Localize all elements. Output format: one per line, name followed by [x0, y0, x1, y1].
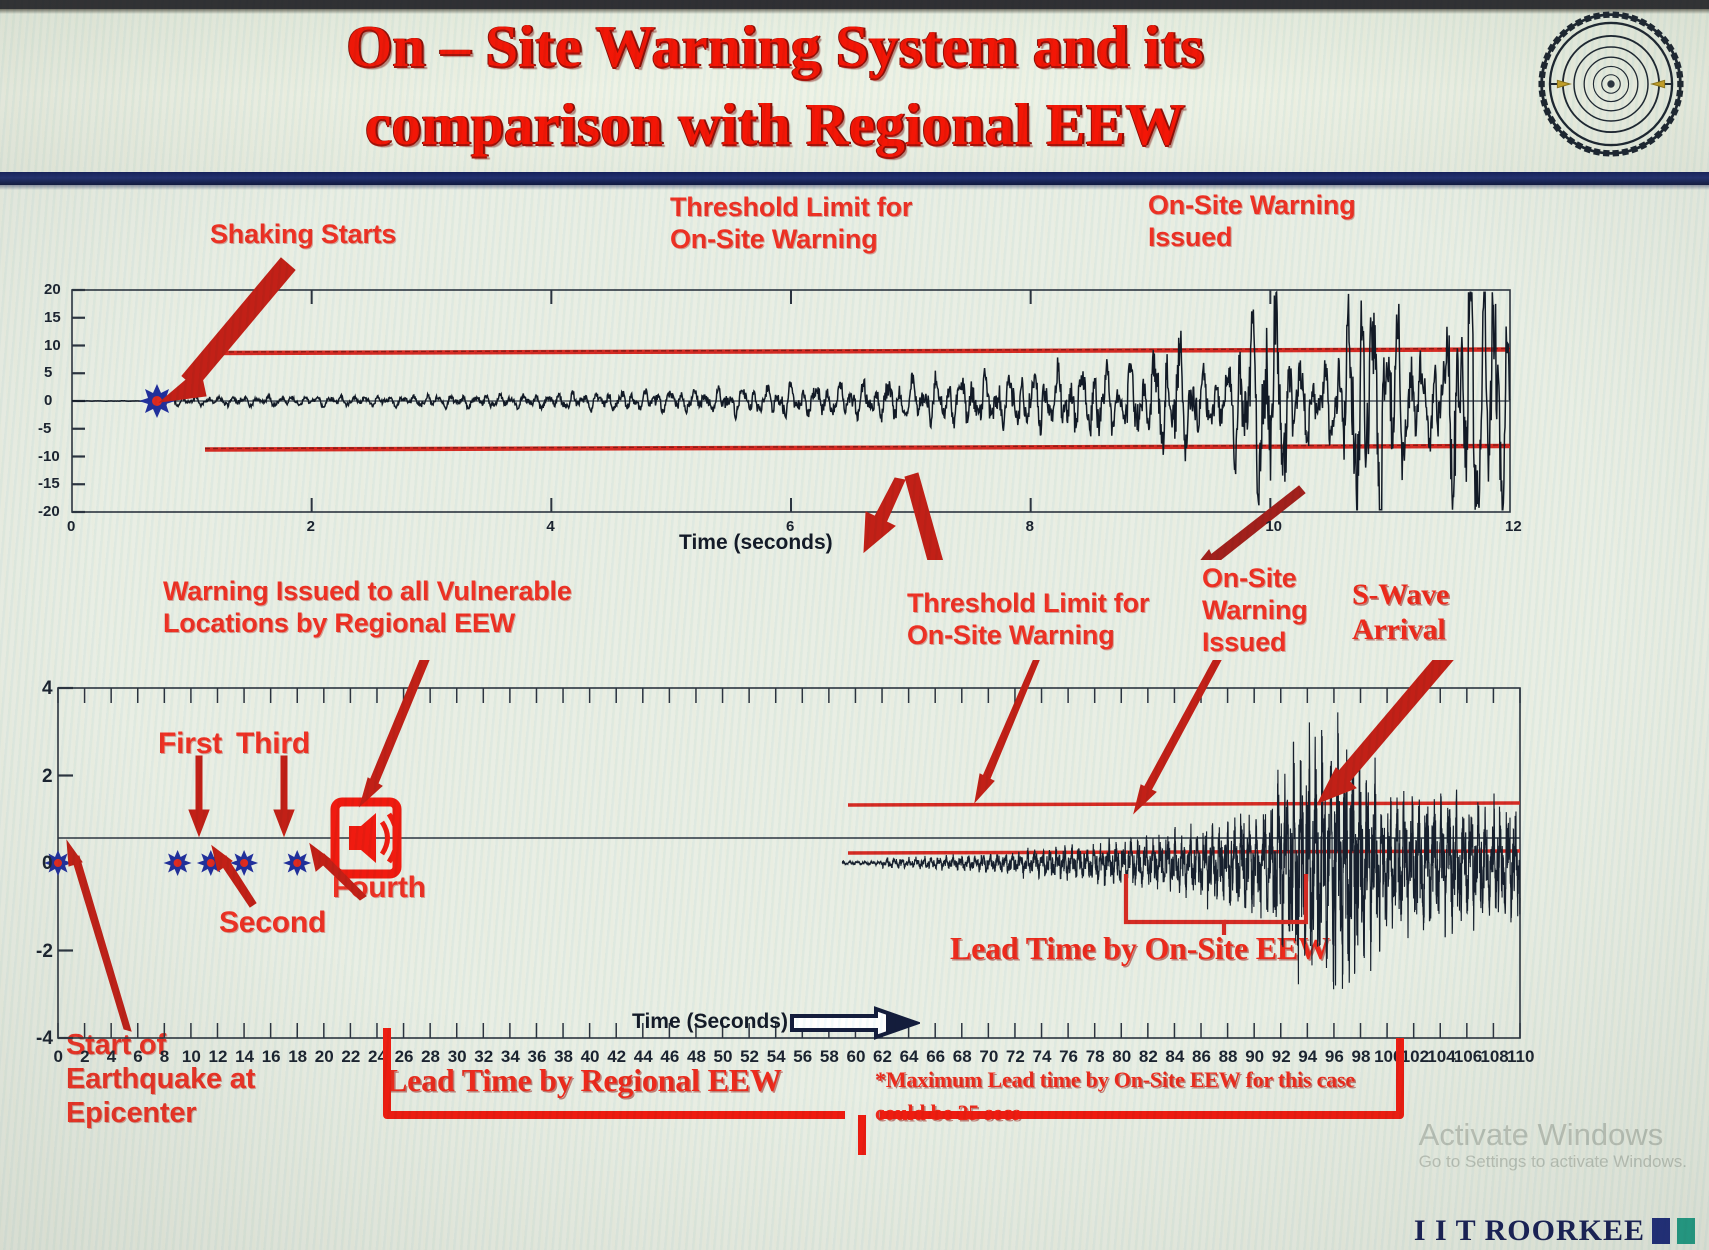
top-seismogram-chart: [0, 190, 1709, 560]
top-chart-y-tick: 10: [44, 337, 61, 354]
annotation-threshold-limit-bottom: Threshold Limit for On-Site Warning: [907, 588, 1149, 652]
threshold-line-negative: [205, 445, 1510, 450]
arrow-shaking-starts: [160, 258, 295, 402]
top-chart-y-tick: 20: [44, 281, 61, 298]
annotation-s-wave-arrival: S-Wave Arrival: [1352, 577, 1449, 648]
watermark-line1: Activate Windows: [1419, 1117, 1687, 1153]
top-chart-x-tick: 2: [307, 518, 315, 535]
arrow-second: [212, 846, 256, 907]
arrow-onsite-warning-bottom: [1134, 660, 1241, 813]
arrow-s-wave-arrival: [1318, 660, 1477, 803]
top-chart-x-tick: 12: [1505, 518, 1522, 535]
bottom-chart-y-tick: 2: [42, 766, 53, 788]
top-chart-x-tick: 4: [546, 518, 554, 535]
footer-brand-square-2: [1677, 1218, 1695, 1244]
onsite-seismogram-trace: [842, 712, 1520, 989]
threshold-line-positive: [205, 349, 1510, 354]
top-chart-y-tick: -20: [38, 503, 60, 520]
top-chart-y-tick: -5: [38, 420, 51, 437]
arrow-start-of-earthquake: [67, 841, 131, 1031]
footer-brand-text: I I T ROORKEE: [1414, 1214, 1645, 1248]
page-title: On – Site Warning System and its compari…: [170, 8, 1380, 164]
top-chart-y-tick: 5: [44, 364, 52, 381]
annotation-onsite-warning-issued-bottom: On-Site Warning Issued: [1202, 563, 1308, 659]
bottom-chart-y-tick: 4: [42, 678, 53, 700]
arrow-onsite-warning-top: [1185, 486, 1305, 560]
station-marker: [164, 850, 192, 876]
arrow-threshold-bottom: [975, 660, 1055, 802]
top-chart-x-tick: 0: [67, 518, 75, 535]
station-marker: [283, 850, 311, 876]
lead-time-onsite-brace: [1126, 874, 1306, 935]
footer-brand-square-1: [1652, 1218, 1670, 1244]
arrow-regional-warning: [360, 660, 456, 806]
header-divider-shadow: [0, 185, 1709, 190]
iit-roorkee-logo-icon: [1537, 10, 1685, 158]
slide-header: On – Site Warning System and its compari…: [0, 0, 1709, 172]
top-chart-x-tick: 8: [1026, 518, 1034, 535]
bottom-chart-y-tick: -2: [36, 941, 53, 963]
top-chart-x-tick: 10: [1265, 518, 1282, 535]
top-chart-y-tick: 15: [44, 309, 61, 326]
top-chart-y-tick: -15: [38, 475, 60, 492]
watermark-line2: Go to Settings to activate Windows.: [1419, 1152, 1687, 1172]
arrow-threshold-down-left: [864, 478, 905, 552]
footer-brand: I I T ROORKEE: [1414, 1214, 1695, 1248]
arrow-third: [274, 756, 294, 836]
top-chart-y-tick: 0: [44, 392, 52, 409]
bottom-chart-y-tick: 0: [42, 853, 53, 875]
top-chart-y-tick: -10: [38, 448, 60, 465]
annotation-regional-warning-issued: Warning Issued to all Vulnerable Locatio…: [163, 576, 572, 640]
top-chart-x-axis-title: Time (seconds): [679, 531, 833, 555]
page-title-line1: On – Site Warning System and its: [170, 8, 1380, 86]
page-title-line2: comparison with Regional EEW: [170, 86, 1380, 164]
header-divider: [0, 172, 1709, 185]
windows-activation-watermark: Activate Windows Go to Settings to activ…: [1419, 1117, 1687, 1172]
arrow-first: [189, 756, 209, 836]
arrow-threshold-down-right: [905, 473, 967, 560]
